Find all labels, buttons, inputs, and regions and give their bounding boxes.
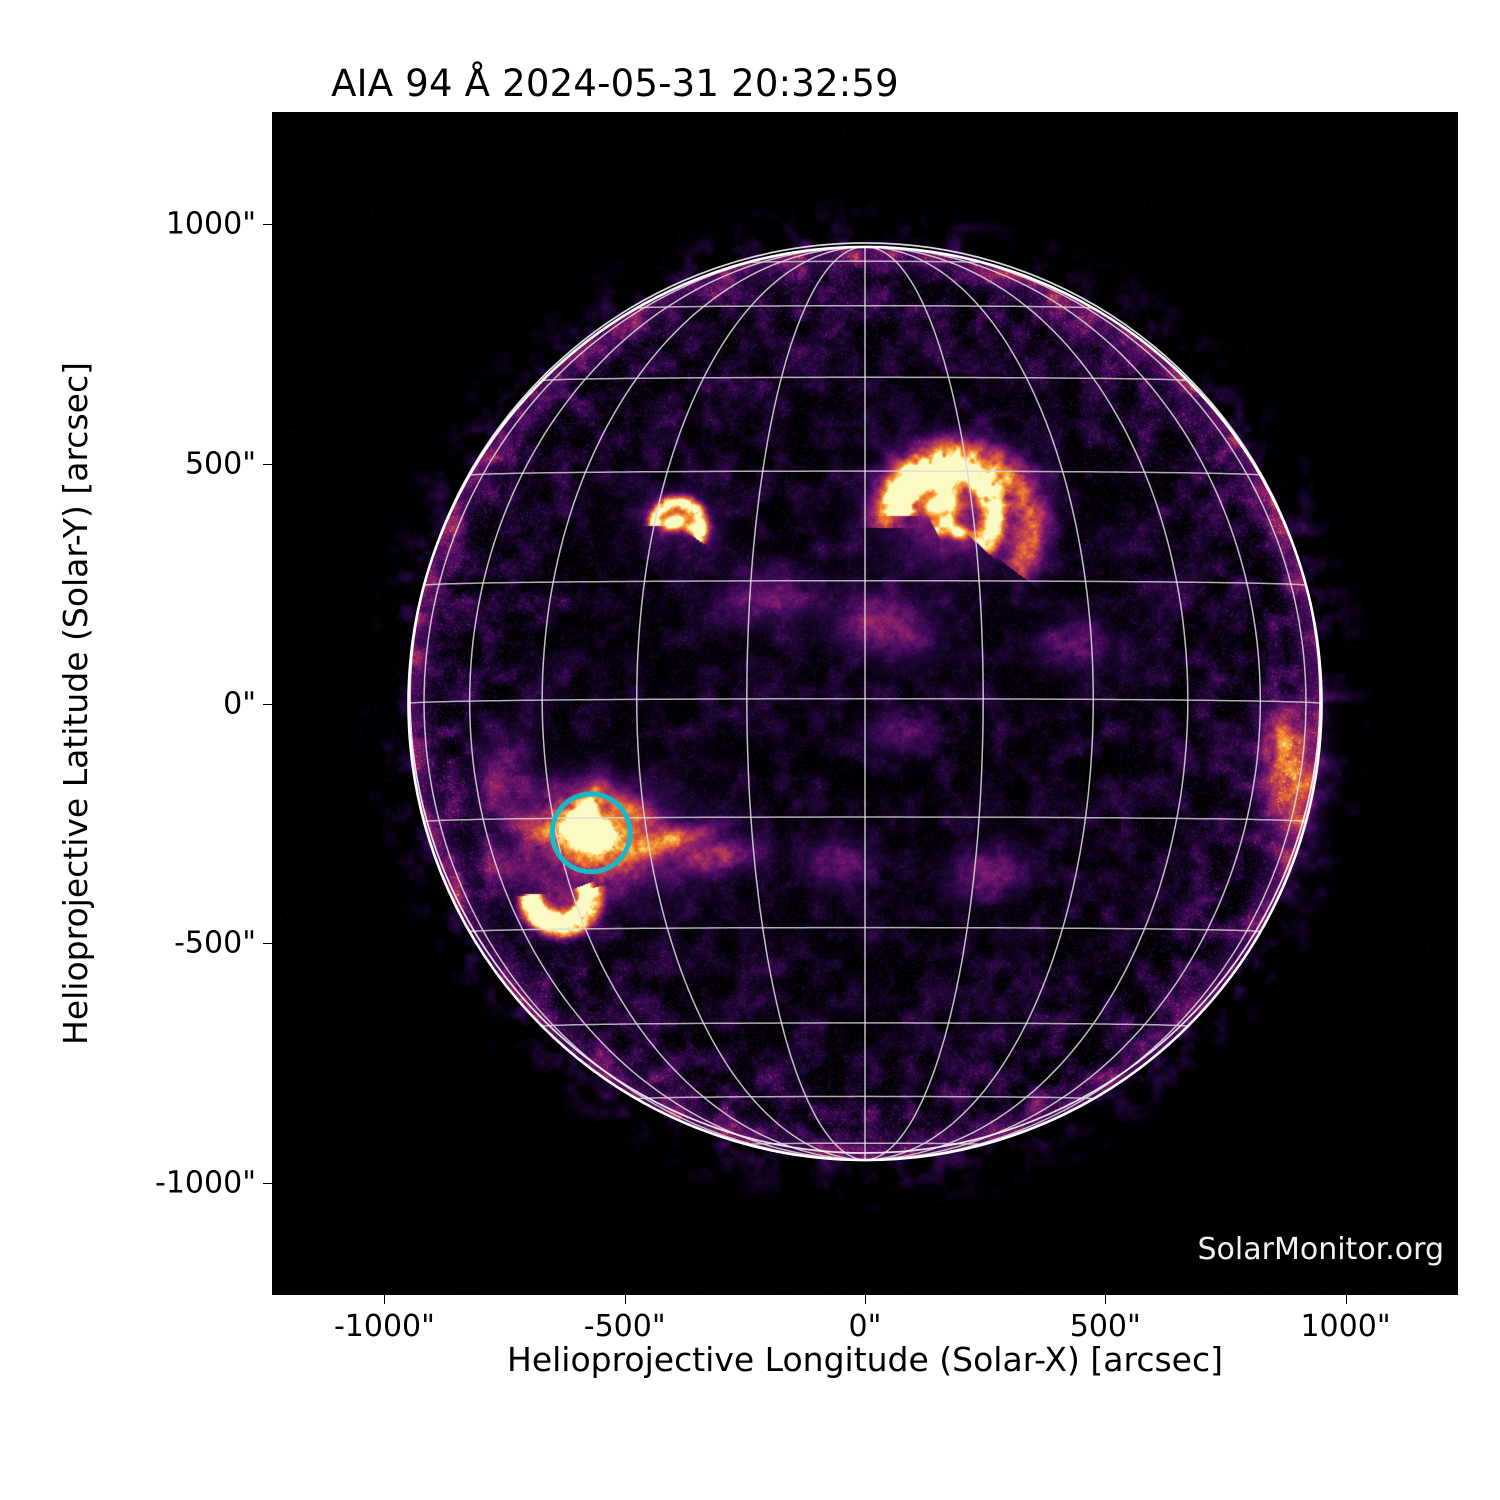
active-region-circle-marker [552, 794, 630, 872]
y-tick-label: 500" [185, 446, 256, 481]
x-tick-label: -1000" [334, 1309, 435, 1344]
y-axis-label: Helioprojective Latitude (Solar-Y) [arcs… [56, 362, 95, 1045]
y-tick-label: 0" [223, 686, 256, 721]
y-tick-mark [263, 224, 272, 225]
y-tick-label: -1000" [155, 1165, 256, 1200]
x-tick-mark [625, 1295, 626, 1304]
x-tick-label: 500" [1070, 1309, 1141, 1344]
x-tick-mark [1346, 1295, 1347, 1304]
x-tick-label: -500" [584, 1309, 666, 1344]
y-tick-label: -500" [174, 926, 256, 961]
y-tick-mark [263, 464, 272, 465]
y-tick-mark [263, 943, 272, 944]
x-tick-mark [384, 1295, 385, 1304]
x-tick-mark [1105, 1295, 1106, 1304]
y-tick-mark [263, 1183, 272, 1184]
heliographic-grid-overlay [272, 112, 1458, 1295]
x-tick-label: 0" [849, 1309, 882, 1344]
figure-title: AIA 94 Å 2024-05-31 20:32:59 [0, 62, 1500, 105]
y-tick-mark [263, 704, 272, 705]
x-axis-label: Helioprojective Longitude (Solar-X) [arc… [272, 1340, 1458, 1379]
watermark-label: SolarMonitor.org [1198, 1232, 1444, 1267]
plot-area: SolarMonitor.org [272, 112, 1458, 1295]
solar-image-figure: AIA 94 Å 2024-05-31 20:32:59 SolarMonito… [0, 0, 1500, 1500]
y-tick-label: 1000" [166, 207, 256, 242]
x-tick-mark [865, 1295, 866, 1304]
x-tick-label: 1000" [1300, 1309, 1390, 1344]
figure-title-text: AIA 94 Å 2024-05-31 20:32:59 [331, 62, 899, 105]
